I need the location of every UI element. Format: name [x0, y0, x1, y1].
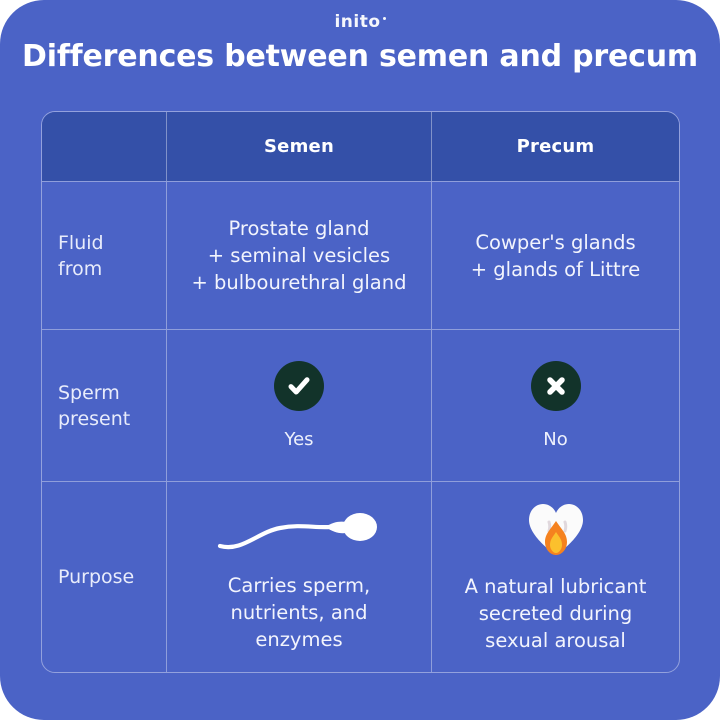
cell-semen-fluid-from: Prostate gland + seminal vesicles + bulb…: [166, 182, 431, 329]
cell-precum-sperm-present: No: [431, 330, 679, 481]
row-label-purpose: Purpose: [42, 482, 166, 672]
check-circle-icon: [274, 361, 324, 411]
row-label-fluid-from: Fluid from: [42, 182, 166, 329]
header-cell-blank: [42, 112, 166, 181]
row-label-text: Sperm present: [58, 380, 130, 432]
row-label-text: Purpose: [58, 564, 134, 590]
cell-semen-sperm-present: Yes: [166, 330, 431, 481]
header-label-semen: Semen: [264, 136, 334, 157]
brand-logo: inito: [0, 12, 720, 32]
cell-text: A natural lubricant secreted during sexu…: [465, 573, 647, 654]
row-label-sperm-present: Sperm present: [42, 330, 166, 481]
page-title: Differences between semen and precum: [0, 38, 720, 76]
sperm-icon: [214, 502, 384, 558]
table-row: Fluid from Prostate gland + seminal vesi…: [42, 181, 679, 329]
cell-precum-purpose: A natural lubricant secreted during sexu…: [431, 482, 679, 672]
comparison-table: Semen Precum Fluid from Prostate gland +…: [41, 111, 680, 673]
cross-circle-icon: [531, 361, 581, 411]
header-cell-precum: Precum: [431, 112, 679, 181]
cell-text: Cowper's glands + glands of Littre: [471, 229, 641, 283]
brand-dot-icon: [383, 17, 386, 20]
brand-name: inito: [334, 12, 380, 32]
infographic-card: inito Differences between semen and prec…: [0, 0, 720, 720]
table-row: Purpose Carries sperm, nutrients, and en…: [42, 481, 679, 672]
header-cell-semen: Semen: [166, 112, 431, 181]
cell-precum-fluid-from: Cowper's glands + glands of Littre: [431, 182, 679, 329]
cell-text: Carries sperm, nutrients, and enzymes: [228, 572, 370, 653]
table-header-row: Semen Precum: [42, 112, 679, 181]
cell-text: Yes: [284, 429, 313, 450]
header-label-precum: Precum: [517, 136, 595, 157]
heart-on-fire-icon: [525, 501, 587, 559]
cell-text: No: [543, 429, 567, 450]
row-label-text: Fluid from: [58, 230, 104, 282]
table-row: Sperm present Yes No: [42, 329, 679, 481]
cell-text: Prostate gland + seminal vesicles + bulb…: [191, 215, 406, 296]
cell-semen-purpose: Carries sperm, nutrients, and enzymes: [166, 482, 431, 672]
